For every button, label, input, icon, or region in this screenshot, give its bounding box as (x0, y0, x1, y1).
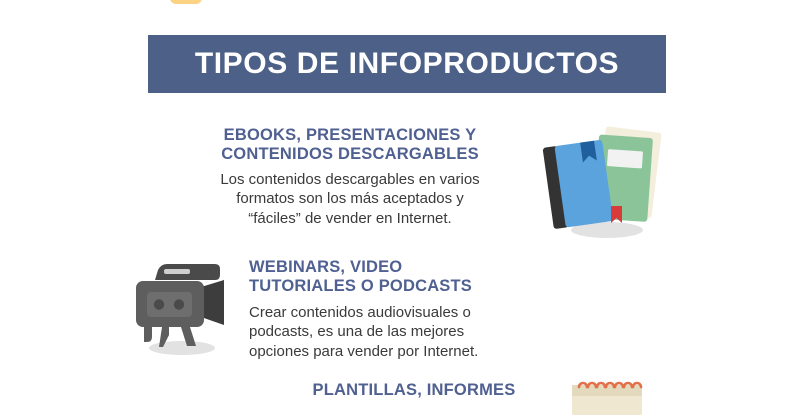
section-ebooks: EBOOKS, PRESENTACIONES Y CONTENIDOS DESC… (160, 126, 540, 229)
camera-icon-leg-left (144, 327, 152, 342)
page-title-banner: TIPOS DE INFOPRODUCTOS (148, 35, 666, 93)
decorative-top-shape (170, 0, 202, 4)
books-icon-green-label (607, 149, 643, 168)
section-plantillas-heading: PLANTILLAS, INFORMES (249, 381, 579, 400)
page-title: TIPOS DE INFOPRODUCTOS (195, 47, 619, 81)
section-plantillas: PLANTILLAS, INFORMES (249, 381, 579, 400)
section-webinars-body: Crear contenidos audiovisuales o podcast… (249, 303, 579, 362)
books-icon (540, 122, 670, 242)
camera-icon-reel-right (174, 299, 184, 309)
camera-icon-lens (201, 280, 224, 325)
books-icon-red-ribbon (611, 206, 622, 223)
video-camera-icon (124, 254, 236, 360)
section-ebooks-body: Los contenidos descargables en varios fo… (160, 170, 540, 229)
camera-icon-shadow (149, 341, 215, 355)
section-ebooks-heading: EBOOKS, PRESENTACIONES Y CONTENIDOS DESC… (160, 126, 540, 164)
camera-icon-handle-slot (164, 269, 190, 274)
camera-icon-panel (147, 292, 192, 317)
section-webinars-heading: WEBINARS, VIDEO TUTORIALES O PODCASTS (249, 258, 579, 296)
camera-icon-reel-left (154, 299, 164, 309)
section-webinars: WEBINARS, VIDEO TUTORIALES O PODCASTS Cr… (249, 258, 579, 362)
spiral-notepad-icon (560, 375, 665, 415)
